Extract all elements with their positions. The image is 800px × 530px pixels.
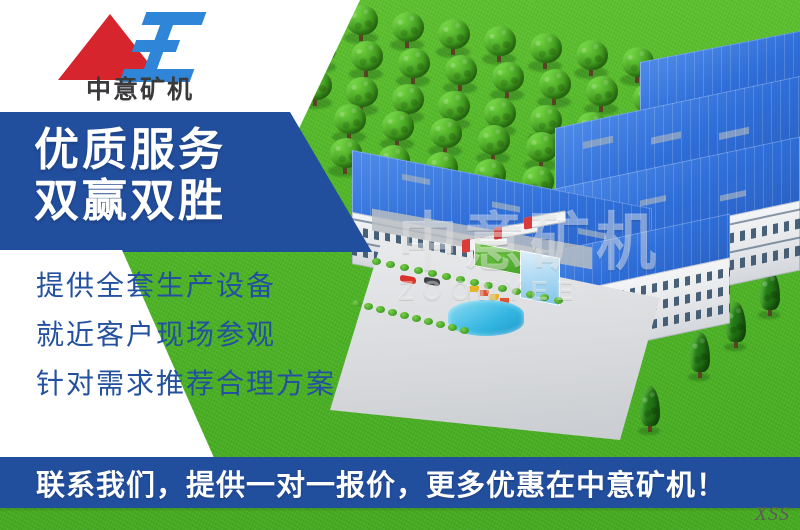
selling-points-list: 提供全套生产设备 就近客户现场参观 针对需求推荐合理方案 bbox=[36, 272, 416, 419]
tree-icon bbox=[539, 65, 571, 105]
bush-icon bbox=[554, 297, 563, 304]
logo-wordmark: 中意矿机 bbox=[60, 78, 220, 103]
headline: 优质服务 双赢双胜 bbox=[34, 124, 324, 227]
bush-icon bbox=[424, 318, 433, 325]
footer-cta-text: 联系我们，提供一对一报价，更多优惠在中意矿机！ bbox=[36, 462, 726, 504]
bush-icon bbox=[428, 270, 437, 277]
logo-mark bbox=[52, 8, 222, 82]
bush-icon bbox=[456, 276, 465, 283]
bush-icon bbox=[372, 258, 381, 265]
headline-line-2: 双赢双胜 bbox=[34, 175, 324, 226]
bush-icon bbox=[460, 327, 469, 334]
bush-icon bbox=[498, 285, 507, 292]
tree-icon bbox=[392, 8, 424, 48]
bush-icon bbox=[400, 264, 409, 271]
corner-watermark: XSS bbox=[755, 503, 790, 526]
promo-banner: 中意矿机 ZOONYEE 中意矿机 优质服务 双赢双胜 提供全套生产设备 就近客… bbox=[0, 0, 800, 530]
bush-icon bbox=[386, 261, 395, 268]
letter-e-icon bbox=[130, 12, 216, 82]
tree-icon bbox=[351, 37, 383, 77]
bush-icon bbox=[540, 294, 549, 301]
tree-icon bbox=[576, 36, 608, 76]
company-logo[interactable]: 中意矿机 bbox=[52, 8, 222, 112]
bush-icon bbox=[526, 291, 535, 298]
tree-icon bbox=[530, 29, 562, 69]
bush-icon bbox=[442, 273, 451, 280]
conifer-icon bbox=[640, 384, 660, 432]
headline-line-1: 优质服务 bbox=[34, 124, 324, 175]
tree-icon bbox=[445, 51, 477, 91]
tree-icon bbox=[484, 22, 516, 62]
tree-icon bbox=[586, 72, 618, 112]
tree-icon bbox=[438, 15, 470, 55]
footer-shadow bbox=[0, 508, 800, 512]
selling-point: 针对需求推荐合理方案 bbox=[36, 370, 416, 398]
selling-point: 提供全套生产设备 bbox=[36, 272, 416, 300]
bush-icon bbox=[436, 321, 445, 328]
tree-icon bbox=[492, 58, 524, 98]
footer-cta-bar[interactable]: 联系我们，提供一对一报价，更多优惠在中意矿机！ bbox=[0, 457, 800, 508]
bush-icon bbox=[448, 324, 457, 331]
bush-icon bbox=[512, 288, 521, 295]
selling-point: 就近客户现场参观 bbox=[36, 321, 416, 349]
bush-icon bbox=[484, 282, 493, 289]
bush-icon bbox=[470, 279, 479, 286]
tree-icon bbox=[398, 44, 430, 84]
